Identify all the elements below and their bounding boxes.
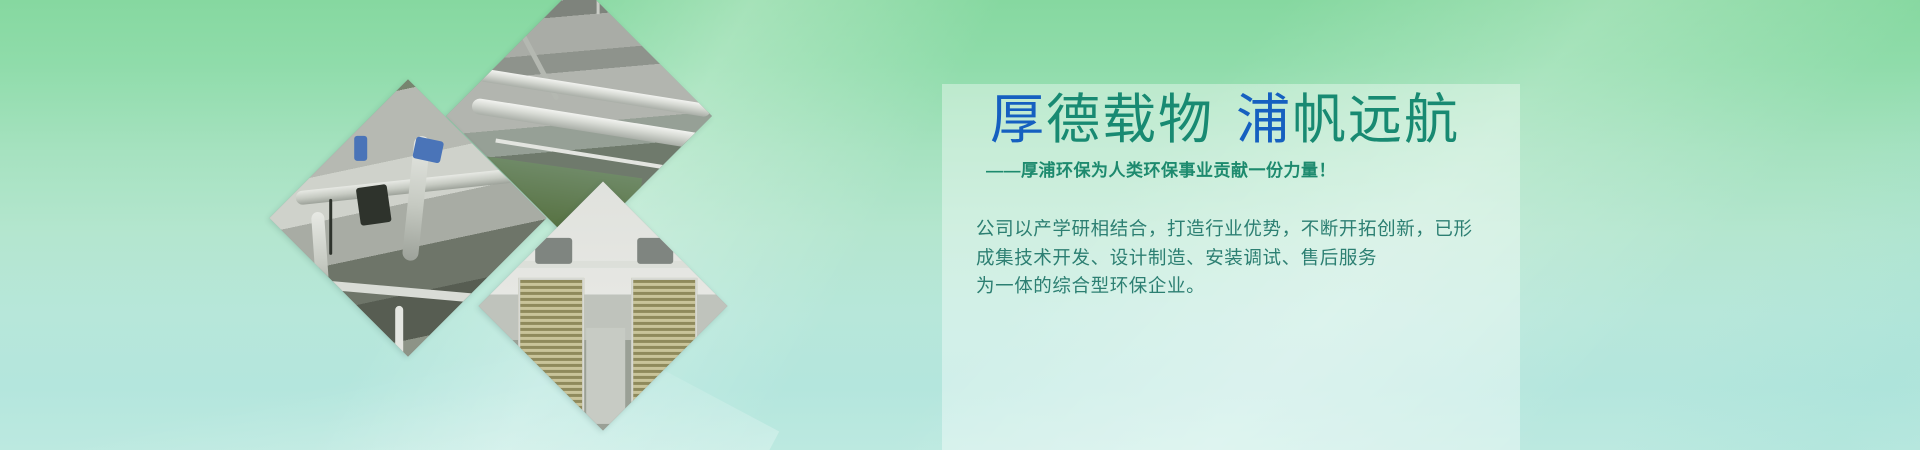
banner-description: 公司以产学研相结合，打造行业优势，不断开拓创新，已形 成集技术开发、设计制造、安… bbox=[976, 215, 1532, 299]
description-line: 为一体的综合型环保企业。 bbox=[976, 272, 1532, 300]
banner-subtitle: ——厚浦环保为人类环保事业贡献一份力量！ bbox=[986, 156, 1532, 181]
description-line: 公司以产学研相结合，打造行业优势，不断开拓创新，已形 bbox=[976, 215, 1532, 243]
photo-collage bbox=[300, 0, 720, 450]
headline-accent-first: 厚 bbox=[990, 90, 1046, 150]
banner-content: 厚德载物浦帆远航 ——厚浦环保为人类环保事业贡献一份力量！ 公司以产学研相结合，… bbox=[972, 90, 1532, 300]
page-title: 厚德载物浦帆远航 bbox=[990, 90, 1532, 150]
headline-rest-second: 帆远航 bbox=[1292, 90, 1460, 150]
hero-banner: 厚德载物浦帆远航 ——厚浦环保为人类环保事业贡献一份力量！ 公司以产学研相结合，… bbox=[0, 0, 1920, 450]
description-line: 成集技术开发、设计制造、安装调试、售后服务 bbox=[976, 244, 1532, 272]
headline-rest-first: 德载物 bbox=[1046, 90, 1214, 150]
headline-accent-second: 浦 bbox=[1236, 90, 1292, 150]
